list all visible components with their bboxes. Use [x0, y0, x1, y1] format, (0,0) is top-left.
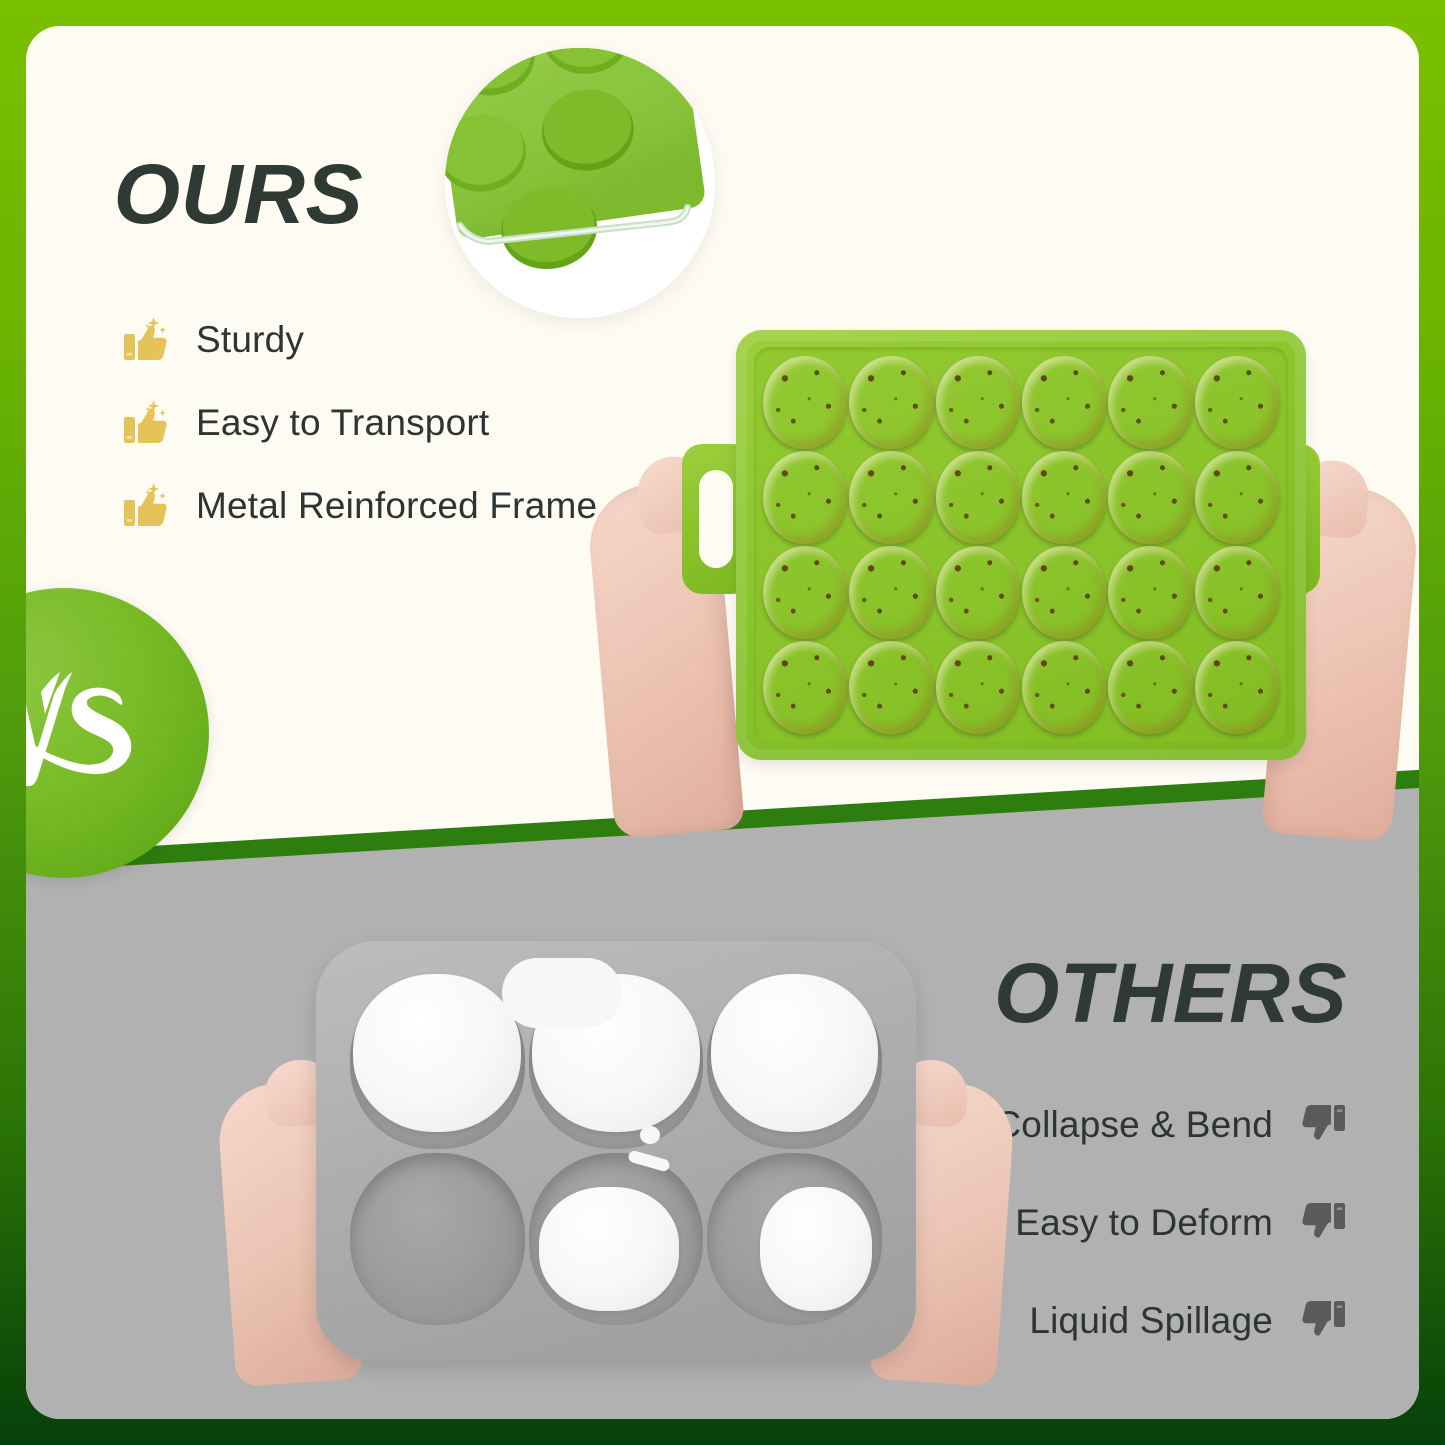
vs-brush-lettering	[26, 643, 159, 823]
muffin	[1022, 451, 1106, 544]
muffin	[1195, 641, 1279, 734]
thumbs-up-sparkle-icon	[122, 314, 174, 366]
muffin	[1022, 546, 1106, 639]
list-item: Easy to Transport	[122, 385, 597, 461]
pan-cup	[529, 1153, 704, 1325]
muffin	[1108, 546, 1192, 639]
muffin	[936, 546, 1020, 639]
gray-muffin-pan	[316, 941, 916, 1361]
muffin	[1108, 451, 1192, 544]
muffin	[1195, 546, 1279, 639]
muffin	[849, 546, 933, 639]
list-item: Collapse & Bend	[994, 1088, 1347, 1162]
muffin	[849, 356, 933, 449]
muffin	[849, 641, 933, 734]
thumbs-down-icon	[1295, 1099, 1347, 1151]
muffin	[1195, 451, 1279, 544]
spilled-batter	[539, 1187, 679, 1311]
muffin	[1108, 641, 1192, 734]
list-item-label: Metal Reinforced Frame	[196, 485, 597, 527]
spilled-batter	[760, 1187, 872, 1311]
muffin	[936, 641, 1020, 734]
list-item-label: Collapse & Bend	[994, 1104, 1273, 1146]
ours-feature-list: Sturdy Easy to Transport	[122, 302, 597, 551]
list-item: Easy to Deform	[994, 1186, 1347, 1260]
muffin	[763, 451, 847, 544]
muffin	[936, 356, 1020, 449]
list-item: Liquid Spillage	[994, 1284, 1347, 1358]
green-muffin-pan	[736, 330, 1306, 760]
ours-product-image	[586, 316, 1416, 876]
thumbs-up-sparkle-icon	[122, 397, 174, 449]
muffin	[1022, 641, 1106, 734]
batter-spill-bridge	[502, 958, 622, 1028]
others-feature-list: Collapse & Bend Easy to Deform	[994, 1088, 1347, 1382]
list-item-label: Sturdy	[196, 319, 304, 361]
list-item: Metal Reinforced Frame	[122, 468, 597, 544]
list-item-label: Easy to Transport	[196, 402, 489, 444]
muffin	[763, 546, 847, 639]
metal-frame-inset-image	[445, 48, 715, 318]
pan-cup	[350, 1153, 525, 1325]
muffin	[936, 451, 1020, 544]
list-item-label: Liquid Spillage	[1029, 1300, 1273, 1342]
thumbs-down-icon	[1295, 1295, 1347, 1347]
others-heading: OTHERS	[994, 951, 1347, 1035]
silicone-pan-closeup-illustration	[445, 48, 715, 318]
list-item-label: Easy to Deform	[1015, 1202, 1273, 1244]
thumbs-down-icon	[1295, 1197, 1347, 1249]
ours-heading: OURS	[114, 152, 364, 236]
muffin	[1108, 356, 1192, 449]
muffin	[763, 641, 847, 734]
spilled-batter	[353, 974, 521, 1132]
batter-droplet	[640, 1126, 660, 1144]
spilled-batter	[711, 974, 879, 1132]
others-product-image	[226, 931, 1006, 1401]
comparison-panel: OURS Sturdy	[26, 26, 1419, 1419]
pan-cup	[707, 977, 882, 1149]
infographic-frame: OURS Sturdy	[0, 0, 1445, 1445]
pan-cup	[707, 1153, 882, 1325]
muffin	[1195, 356, 1279, 449]
thumbs-up-sparkle-icon	[122, 480, 174, 532]
muffin-grid	[754, 347, 1288, 743]
pan-cup	[350, 977, 525, 1149]
muffin	[849, 451, 933, 544]
muffin	[1022, 356, 1106, 449]
muffin	[763, 356, 847, 449]
